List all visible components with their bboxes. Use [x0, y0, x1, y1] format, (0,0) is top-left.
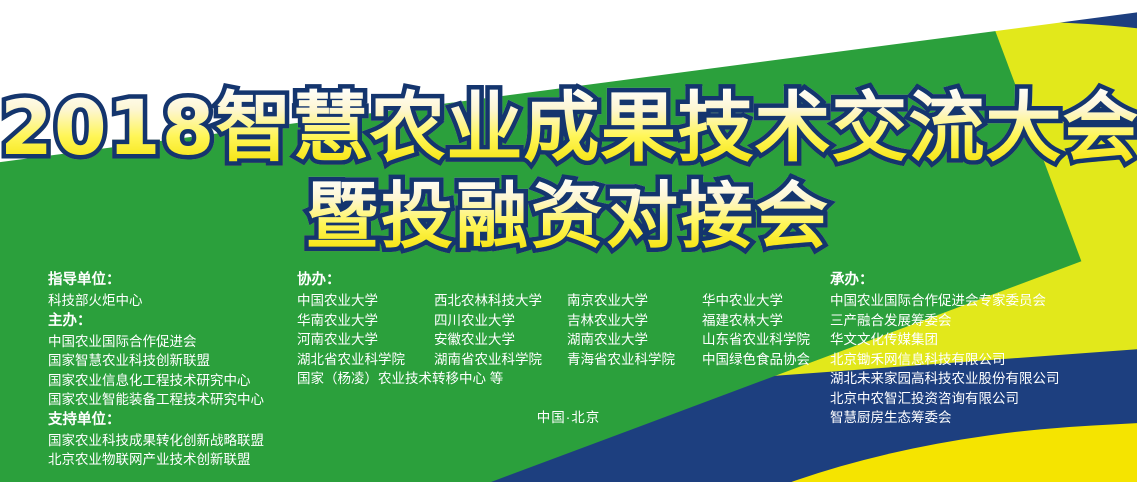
coorganizer-item: 国家（杨凌）农业技术转移中心 等	[297, 369, 814, 389]
coorganizer-item: 湖南农业大学	[567, 330, 702, 350]
coorganizer-item: 河南农业大学	[297, 330, 434, 350]
undertaker-item: 北京锄禾网信息科技有限公司	[830, 350, 1060, 370]
support-item: 北京农业物联网产业技术创新联盟	[48, 450, 264, 470]
banner-title-stroke: 2018智慧农业成果技术交流大会	[0, 86, 1137, 170]
undertaker-heading: 承办：	[830, 270, 1060, 291]
coorganizer-item: 青海省农业科学院	[567, 350, 702, 370]
venue-label: 中国·北京	[0, 406, 1137, 426]
headline-block: 2018智慧农业成果技术交流大会 2018智慧农业成果技术交流大会 暨投融资对接…	[0, 0, 1137, 270]
coorganizer-item: 华中农业大学	[702, 291, 814, 311]
undertaker-column: 承办： 中国农业国际合作促进会专家委员会 三产融合发展筹委会 华文文化传媒集团 …	[830, 270, 1060, 428]
banner-subtitle-stroke: 暨投融资对接会	[0, 176, 1137, 256]
coorganizer-heading: 协办：	[297, 270, 814, 291]
undertaker-item: 中国农业国际合作促进会专家委员会	[830, 291, 1060, 311]
coorganizer-item: 山东省农业科学院	[702, 330, 814, 350]
undertaker-item: 湖北未来家园高科技农业股份有限公司	[830, 369, 1060, 389]
coorganizer-item: 安徽农业大学	[434, 330, 567, 350]
coorganizer-item: 南京农业大学	[567, 291, 702, 311]
coorganizer-item: 中国农业大学	[297, 291, 434, 311]
organizer-item: 国家农业信息化工程技术研究中心	[48, 371, 264, 391]
coorganizer-item: 中国绿色食品协会	[702, 350, 814, 370]
coorganizer-item: 四川农业大学	[434, 311, 567, 331]
coorganizer-item: 华南农业大学	[297, 311, 434, 331]
coorganizer-item: 福建农林大学	[702, 311, 814, 331]
organizer-item: 国家智慧农业科技创新联盟	[48, 351, 264, 371]
guidance-heading: 指导单位：	[48, 270, 264, 291]
organizer-heading: 主办：	[48, 311, 264, 332]
support-item: 国家农业科技成果转化创新战略联盟	[48, 431, 264, 451]
organizer-item: 中国农业国际合作促进会	[48, 332, 264, 352]
undertaker-item: 华文文化传媒集团	[830, 330, 1060, 350]
coorganizer-item: 西北农林科技大学	[434, 291, 567, 311]
coorganizer-item: 湖南省农业科学院	[434, 350, 567, 370]
left-info-column: 指导单位： 科技部火炬中心 主办： 中国农业国际合作促进会 国家智慧农业科技创新…	[48, 270, 264, 470]
guidance-item: 科技部火炬中心	[48, 291, 264, 311]
coorganizer-column: 协办： 中国农业大学 西北农林科技大学 南京农业大学 华中农业大学 华南农业大学…	[297, 270, 814, 389]
coorganizer-item: 湖北省农业科学院	[297, 350, 434, 370]
conference-banner: 2018智慧农业成果技术交流大会 2018智慧农业成果技术交流大会 暨投融资对接…	[0, 0, 1137, 482]
undertaker-item: 三产融合发展筹委会	[830, 311, 1060, 331]
coorganizer-grid: 中国农业大学 西北农林科技大学 南京农业大学 华中农业大学 华南农业大学 四川农…	[297, 291, 814, 369]
coorganizer-item: 吉林农业大学	[567, 311, 702, 331]
